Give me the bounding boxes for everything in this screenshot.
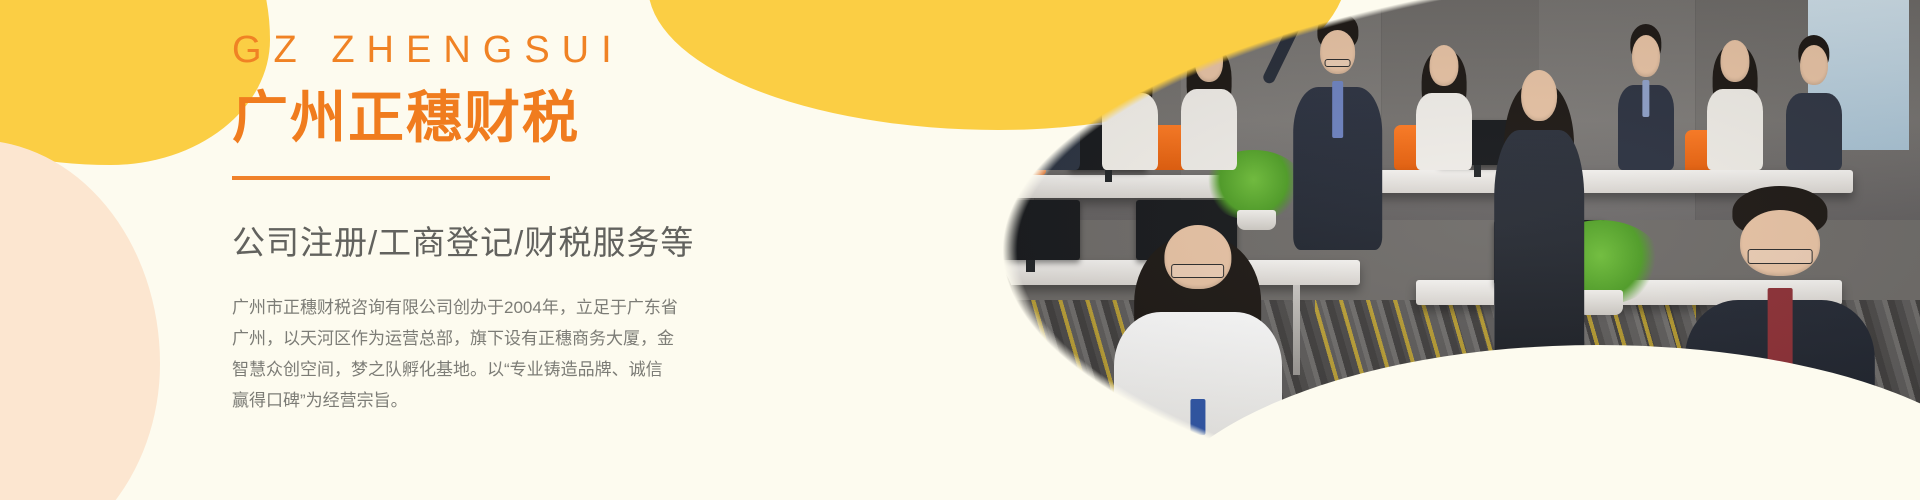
brand-title: 广州正穗财税 (232, 86, 752, 150)
team-photo (800, 0, 1920, 500)
services-subtitle: 公司注册/工商登记/财税服务等 (232, 216, 752, 264)
description-line: 广州市正穗财税咨询有限公司创办于2004年，立足于广东省 (232, 298, 678, 317)
description-line: 智慧众创空间，梦之队孵化基地。以“专业铸造品牌、诚信 (232, 360, 663, 379)
team-photo-image (800, 0, 1920, 500)
title-divider (232, 176, 550, 180)
brand-eyebrow: GZ ZHENGSUI (232, 30, 752, 72)
decorative-blob-peach-left (0, 140, 160, 500)
banner-text-column: GZ ZHENGSUI 广州正穗财税 公司注册/工商登记/财税服务等 广州市正穗… (232, 30, 752, 416)
description-line: 广州，以天河区作为运营总部，旗下设有正穗商务大厦，金 (232, 329, 674, 348)
description-line: 赢得口碑”为经营宗旨。 (232, 391, 408, 410)
hero-banner: GZ ZHENGSUI 广州正穗财税 公司注册/工商登记/财税服务等 广州市正穗… (0, 0, 1920, 500)
decorative-blob-yellow-top-left (0, 0, 270, 165)
company-description: 广州市正穗财税咨询有限公司创办于2004年，立足于广东省 广州，以天河区作为运营… (232, 292, 672, 416)
photo-vignette (800, 0, 1920, 500)
